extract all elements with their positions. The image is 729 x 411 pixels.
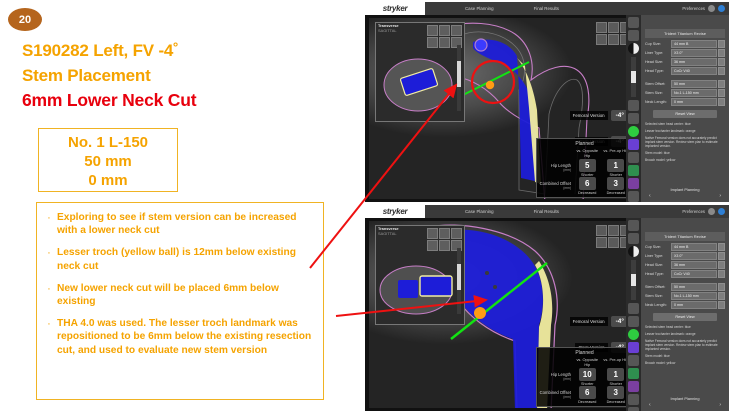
stepper-icon[interactable]: [718, 243, 725, 251]
stem-implant-icon[interactable]: [628, 152, 639, 163]
tab-case-planning[interactable]: Case Planning: [465, 6, 494, 11]
ct-viewport-top[interactable]: Transverse SAGITTAL: [369, 18, 637, 199]
preferences-label[interactable]: Preferences: [682, 6, 705, 11]
hide-implants-icon[interactable]: [628, 407, 639, 411]
user-avatar[interactable]: [718, 5, 725, 12]
cup-size-value[interactable]: 44 mm B: [671, 243, 717, 251]
zoom-icon[interactable]: [608, 225, 619, 236]
stepper-icon[interactable]: [718, 292, 725, 300]
femoral-version-label: Femoral Version: [570, 317, 608, 326]
combined-offset-opposite-note: Decreased: [578, 191, 596, 195]
inset-stem-implant: [420, 276, 452, 296]
param-row-liner-type[interactable]: Liner Type: X3 0°: [645, 252, 725, 260]
spec-line-neck: 0 mm: [88, 171, 127, 190]
liner-type-label: Liner Type:: [645, 254, 671, 258]
inset-scrollbar[interactable]: [457, 45, 461, 111]
femoral-version-readout-top: Femoral Version -4°: [570, 110, 629, 121]
combined-offset-row-label: Combined Offset (mm): [539, 386, 573, 404]
slide-title-line-3: 6mm Lower Neck Cut: [22, 88, 352, 113]
head-size-value[interactable]: 36 mm: [671, 261, 717, 269]
planned-panel-header: Planned ×: [537, 139, 632, 149]
planned-panel-top: Planned × vs. Opposite Hip vs. Pre-op Hi…: [536, 138, 633, 198]
transverse-inset-view-bottom[interactable]: Transverse SAGITTAL: [375, 225, 465, 325]
combined-offset-opposite-value: 6: [579, 177, 596, 190]
list-item: · New lower neck cut will be placed 6mm …: [41, 282, 317, 308]
preferences-label[interactable]: Preferences: [682, 209, 705, 214]
slide-title-line-2: Stem Placement: [22, 63, 352, 88]
tab-final-results[interactable]: Final Results: [534, 209, 559, 214]
planned-col-header-1: vs. Opposite Hip: [573, 149, 602, 159]
implant-spec-box: No. 1 L-150 50 mm 0 mm: [38, 128, 178, 192]
prev-button[interactable]: ‹: [649, 193, 651, 199]
app-body-bottom: Transverse SAGITTAL: [365, 218, 729, 411]
liner-icon[interactable]: [628, 178, 639, 189]
stem-size-label: Stem Size:: [645, 91, 671, 95]
tab-final-results[interactable]: Final Results: [534, 6, 559, 11]
note-stem-head-center: Selected stem head center: blue: [645, 122, 725, 126]
slide-number-badge: 20: [8, 8, 42, 31]
hip-length-row-label: Hip Length (mm): [539, 159, 573, 177]
help-icon[interactable]: [708, 5, 715, 12]
cup-implant-icon[interactable]: [628, 139, 639, 150]
list-item: · Lesser troch (yellow ball) is 12mm bel…: [41, 246, 317, 272]
param-row-stem-offset[interactable]: Stem Offset: 50 mm: [645, 283, 725, 291]
param-row-cup-size[interactable]: Cup Size: 44 mm B: [645, 40, 725, 48]
head-type-value[interactable]: CoCr V40: [671, 67, 717, 75]
hip-length-row-label: Hip Length (mm): [539, 368, 573, 386]
femoral-version-label: Femoral Version: [570, 111, 608, 120]
undo-icon[interactable]: [628, 100, 639, 111]
cup-size-label: Cup Size:: [645, 245, 671, 249]
stepper-icon[interactable]: [718, 89, 725, 97]
stepper-icon[interactable]: [718, 252, 725, 260]
stem-implant-icon[interactable]: [628, 355, 639, 366]
contrast-icon[interactable]: [628, 43, 639, 54]
stem-implant-blue: [473, 40, 539, 182]
hip-length-preop-value: 1: [607, 159, 624, 172]
stepper-icon[interactable]: [718, 49, 725, 57]
head-type-label: Head Type:: [645, 69, 671, 73]
zoom-icon[interactable]: [608, 22, 619, 33]
param-row-head-type[interactable]: Head Type: CoCr V40: [645, 270, 725, 278]
list-item: · THA 4.0 was used. The lesser troch lan…: [41, 317, 317, 357]
user-avatar[interactable]: [718, 208, 725, 215]
hip-length-opposite-cell: 5 Shorter: [573, 159, 602, 177]
neck-length-label: Neck Length:: [645, 303, 671, 307]
combined-offset-opposite-note: Decreased: [578, 400, 596, 404]
stem-offset-label: Stem Offset:: [645, 285, 671, 289]
combined-offset-preop-note: Decreased: [607, 400, 625, 404]
app-body-top: Transverse SAGITTAL: [365, 15, 729, 202]
implant-parameters-panel-top: Trident Titanium Revise Cup Size: 44 mm …: [641, 15, 729, 202]
param-row-head-size[interactable]: Head Size: 36 mm: [645, 261, 725, 269]
bullet-text-2: Lesser troch (yellow ball) is 12mm below…: [57, 246, 317, 272]
combined-offset-unit: (mm): [539, 186, 571, 191]
measure-icon[interactable]: [628, 113, 639, 124]
cup-size-value[interactable]: 44 mm B: [671, 40, 717, 48]
panel-nav[interactable]: ‹ ›: [641, 401, 729, 408]
param-row-stem-offset[interactable]: Stem Offset: 50 mm: [645, 80, 725, 88]
param-row-cup-size[interactable]: Cup Size: 44 mm B: [645, 243, 725, 251]
planned-title: Planned: [575, 350, 593, 356]
header-right-group: Preferences: [682, 5, 725, 12]
bullet-text-1: Exploring to see if stem version can be …: [57, 211, 317, 237]
broach-icon[interactable]: [628, 368, 639, 379]
cup-implant-icon[interactable]: [628, 342, 639, 353]
note-stem-model-color: Stem model: blue: [645, 354, 725, 358]
stepper-icon[interactable]: [718, 301, 725, 309]
list-item: · Exploring to see if stem version can b…: [41, 211, 317, 237]
panel-footer-bottom: Implant Planning ‹ ›: [641, 396, 729, 408]
note-stem-head-center: Selected stem head center: blue: [645, 325, 725, 329]
annotation-highlight-circle: [472, 61, 514, 103]
arrow-left-icon[interactable]: [596, 34, 607, 45]
panel-footer-top: Implant Planning ‹ ›: [641, 187, 729, 199]
note-broach-model-color: Broach model: yellow: [645, 361, 725, 365]
header-right-group: Preferences: [682, 208, 725, 215]
implant-parameters-panel-bottom: Trident Titanium Revise Cup Size: 44 mm …: [641, 218, 729, 411]
prev-button[interactable]: ‹: [649, 402, 651, 408]
liner-type-label: Liner Type:: [645, 51, 671, 55]
stryker-logo: stryker: [365, 205, 425, 218]
gear-icon[interactable]: [628, 233, 639, 244]
inset-cup-implant: [398, 280, 418, 298]
inset-anatomy-overlay: [376, 23, 464, 121]
green-landmark-icon[interactable]: [628, 126, 639, 137]
lesser-trochanter-landmark: [486, 81, 494, 89]
note-broach-model-color: Broach model: yellow: [645, 158, 725, 162]
param-row-neck-length[interactable]: Neck Length: 0 mm: [645, 301, 725, 309]
panel-nav[interactable]: ‹ ›: [641, 192, 729, 199]
combined-offset-opposite-value: 6: [579, 386, 596, 399]
tool-strip-bottom[interactable]: [626, 218, 641, 411]
stepper-icon[interactable]: [718, 283, 725, 291]
contrast-icon[interactable]: [628, 246, 639, 257]
combined-offset-preop-note: Decreased: [607, 191, 625, 195]
reset-view-button[interactable]: Reset View: [653, 110, 717, 118]
app-header-top: stryker Case Planning Final Results Pref…: [365, 2, 729, 15]
parameters-title: Trident Titanium Revise: [645, 232, 725, 241]
undo-icon[interactable]: [628, 303, 639, 314]
pan-icon[interactable]: [596, 22, 607, 33]
slide-title-block: S190282 Left, FV -4˚ Stem Placement 6mm …: [22, 38, 352, 113]
surgical-planning-screenshot-top: stryker Case Planning Final Results Pref…: [365, 2, 729, 202]
liner-type-value[interactable]: X3 0°: [671, 252, 717, 260]
combined-offset-opposite-cell: 6 Decreased: [573, 177, 602, 195]
broach-icon[interactable]: [628, 165, 639, 176]
app-header-bottom: stryker Case Planning Final Results Pref…: [365, 205, 729, 218]
param-row-stem-size[interactable]: Stem Size: No.1 L-150 mm: [645, 89, 725, 97]
neck-length-label: Neck Length:: [645, 100, 671, 104]
measure-icon[interactable]: [628, 316, 639, 327]
femoral-head-center: [475, 39, 487, 51]
combined-offset-unit: (mm): [539, 395, 571, 400]
bullet-marker-icon: ·: [41, 211, 57, 237]
brightness-slider[interactable]: [631, 57, 636, 97]
head-icon[interactable]: [628, 191, 639, 202]
hip-length-unit: (mm): [539, 377, 571, 382]
surgical-planning-screenshot-bottom: stryker Case Planning Final Results Pref…: [365, 205, 729, 411]
head-size-label: Head Size:: [645, 60, 671, 64]
stepper-icon[interactable]: [718, 270, 725, 278]
neck-length-value[interactable]: 0 mm: [671, 301, 717, 309]
green-landmark-icon[interactable]: [628, 329, 639, 340]
parameters-title: Trident Titanium Revise: [645, 29, 725, 38]
inset-anatomy-overlay: [376, 226, 464, 324]
hip-length-opposite-cell: 10 Shorter: [573, 368, 602, 386]
tool-strip-top[interactable]: [626, 15, 641, 202]
note-stem-model-color: Stem model: blue: [645, 151, 725, 155]
transverse-inset-view-top[interactable]: Transverse SAGITTAL: [375, 22, 465, 122]
bullet-marker-icon: ·: [41, 282, 57, 308]
liner-type-value[interactable]: X3 0°: [671, 49, 717, 57]
help-icon[interactable]: [708, 208, 715, 215]
bullet-marker-icon: ·: [41, 317, 57, 357]
stepper-icon[interactable]: [718, 58, 725, 66]
combined-offset-preop-value: 3: [607, 177, 624, 190]
stepper-icon[interactable]: [718, 80, 725, 88]
stem-size-value[interactable]: No.1 L-150 mm: [671, 292, 717, 300]
note-femoral-version-warning: Native Femoral version does not accurate…: [645, 136, 725, 148]
head-type-label: Head Type:: [645, 272, 671, 276]
note-femoral-version-warning: Native Femoral version does not accurate…: [645, 339, 725, 351]
inset-scrollbar[interactable]: [457, 248, 461, 314]
bullet-list-box: · Exploring to see if stem version can b…: [36, 202, 324, 400]
search-icon[interactable]: [628, 17, 639, 28]
bullet-text-4: THA 4.0 was used. The lesser troch landm…: [57, 317, 317, 357]
femoral-version-readout-bottom: Femoral Version -4°: [570, 316, 629, 327]
planned-col-header-1: vs. Opposite Hip: [573, 358, 602, 368]
combined-offset-preop-value: 3: [607, 386, 624, 399]
reset-view-button[interactable]: Reset View: [653, 313, 717, 321]
screw-hole-marker: [485, 271, 489, 275]
ct-viewport-bottom[interactable]: Transverse SAGITTAL: [369, 221, 637, 408]
stem-size-value[interactable]: No.1 L-150 mm: [671, 89, 717, 97]
param-row-stem-size[interactable]: Stem Size: No.1 L-150 mm: [645, 292, 725, 300]
cup-size-label: Cup Size:: [645, 42, 671, 46]
combined-offset-opposite-cell: 6 Decreased: [573, 386, 602, 404]
param-row-head-type[interactable]: Head Type: CoCr V40: [645, 67, 725, 75]
stepper-icon[interactable]: [718, 40, 725, 48]
screw-hole-marker: [493, 285, 497, 289]
arrow-down-icon[interactable]: [608, 237, 619, 248]
arrow-left-icon[interactable]: [596, 237, 607, 248]
next-button[interactable]: ›: [719, 402, 721, 408]
param-row-liner-type[interactable]: Liner Type: X3 0°: [645, 49, 725, 57]
combined-offset-row-label: Combined Offset (mm): [539, 177, 573, 195]
planned-panel-header: Planned ×: [537, 348, 632, 358]
note-lesser-trochanter: Lesser trochanter landmark: orange: [645, 332, 725, 336]
note-lesser-trochanter: Lesser trochanter landmark: orange: [645, 129, 725, 133]
hip-length-opposite-value: 10: [579, 368, 596, 381]
brightness-slider[interactable]: [631, 260, 636, 300]
lesser-trochanter-landmark: [474, 307, 486, 319]
slide-text-panel: 20 S190282 Left, FV -4˚ Stem Placement 6…: [0, 0, 365, 411]
tab-case-planning[interactable]: Case Planning: [465, 209, 494, 214]
hip-length-preop-value: 1: [607, 368, 624, 381]
stem-size-label: Stem Size:: [645, 294, 671, 298]
param-row-neck-length[interactable]: Neck Length: 0 mm: [645, 98, 725, 106]
pan-icon[interactable]: [596, 225, 607, 236]
gear-icon[interactable]: [628, 30, 639, 41]
next-button[interactable]: ›: [719, 193, 721, 199]
spec-line-offset: 50 mm: [84, 152, 132, 171]
stem-offset-value[interactable]: 50 mm: [671, 80, 717, 88]
planned-grid-top: vs. Opposite Hip vs. Pre-op Hip Hip Leng…: [537, 149, 632, 197]
arrow-down-icon[interactable]: [608, 34, 619, 45]
planned-grid-bottom: vs. Opposite Hip vs. Pre-op Hip Hip Leng…: [537, 358, 632, 406]
spec-line-stem: No. 1 L-150: [68, 133, 148, 152]
stepper-icon[interactable]: [718, 67, 725, 75]
head-size-label: Head Size:: [645, 263, 671, 267]
planned-panel-bottom: Planned × vs. Opposite Hip vs. Pre-op Hi…: [536, 347, 633, 407]
param-row-head-size[interactable]: Head Size: 36 mm: [645, 58, 725, 66]
stepper-icon[interactable]: [718, 98, 725, 106]
head-type-value[interactable]: CoCr V40: [671, 270, 717, 278]
head-size-value[interactable]: 36 mm: [671, 58, 717, 66]
hip-length-opposite-value: 5: [579, 159, 596, 172]
search-icon[interactable]: [628, 220, 639, 231]
stem-offset-value[interactable]: 50 mm: [671, 283, 717, 291]
neck-length-value[interactable]: 0 mm: [671, 98, 717, 106]
hip-length-unit: (mm): [539, 168, 571, 173]
planned-title: Planned: [575, 141, 593, 147]
stepper-icon[interactable]: [718, 261, 725, 269]
slide-title-line-1: S190282 Left, FV -4˚: [22, 38, 352, 63]
stryker-logo: stryker: [365, 2, 425, 15]
bullet-marker-icon: ·: [41, 246, 57, 272]
head-icon[interactable]: [628, 394, 639, 405]
bullet-text-3: New lower neck cut will be placed 6mm be…: [57, 282, 317, 308]
stem-offset-label: Stem Offset:: [645, 82, 671, 86]
liner-icon[interactable]: [628, 381, 639, 392]
